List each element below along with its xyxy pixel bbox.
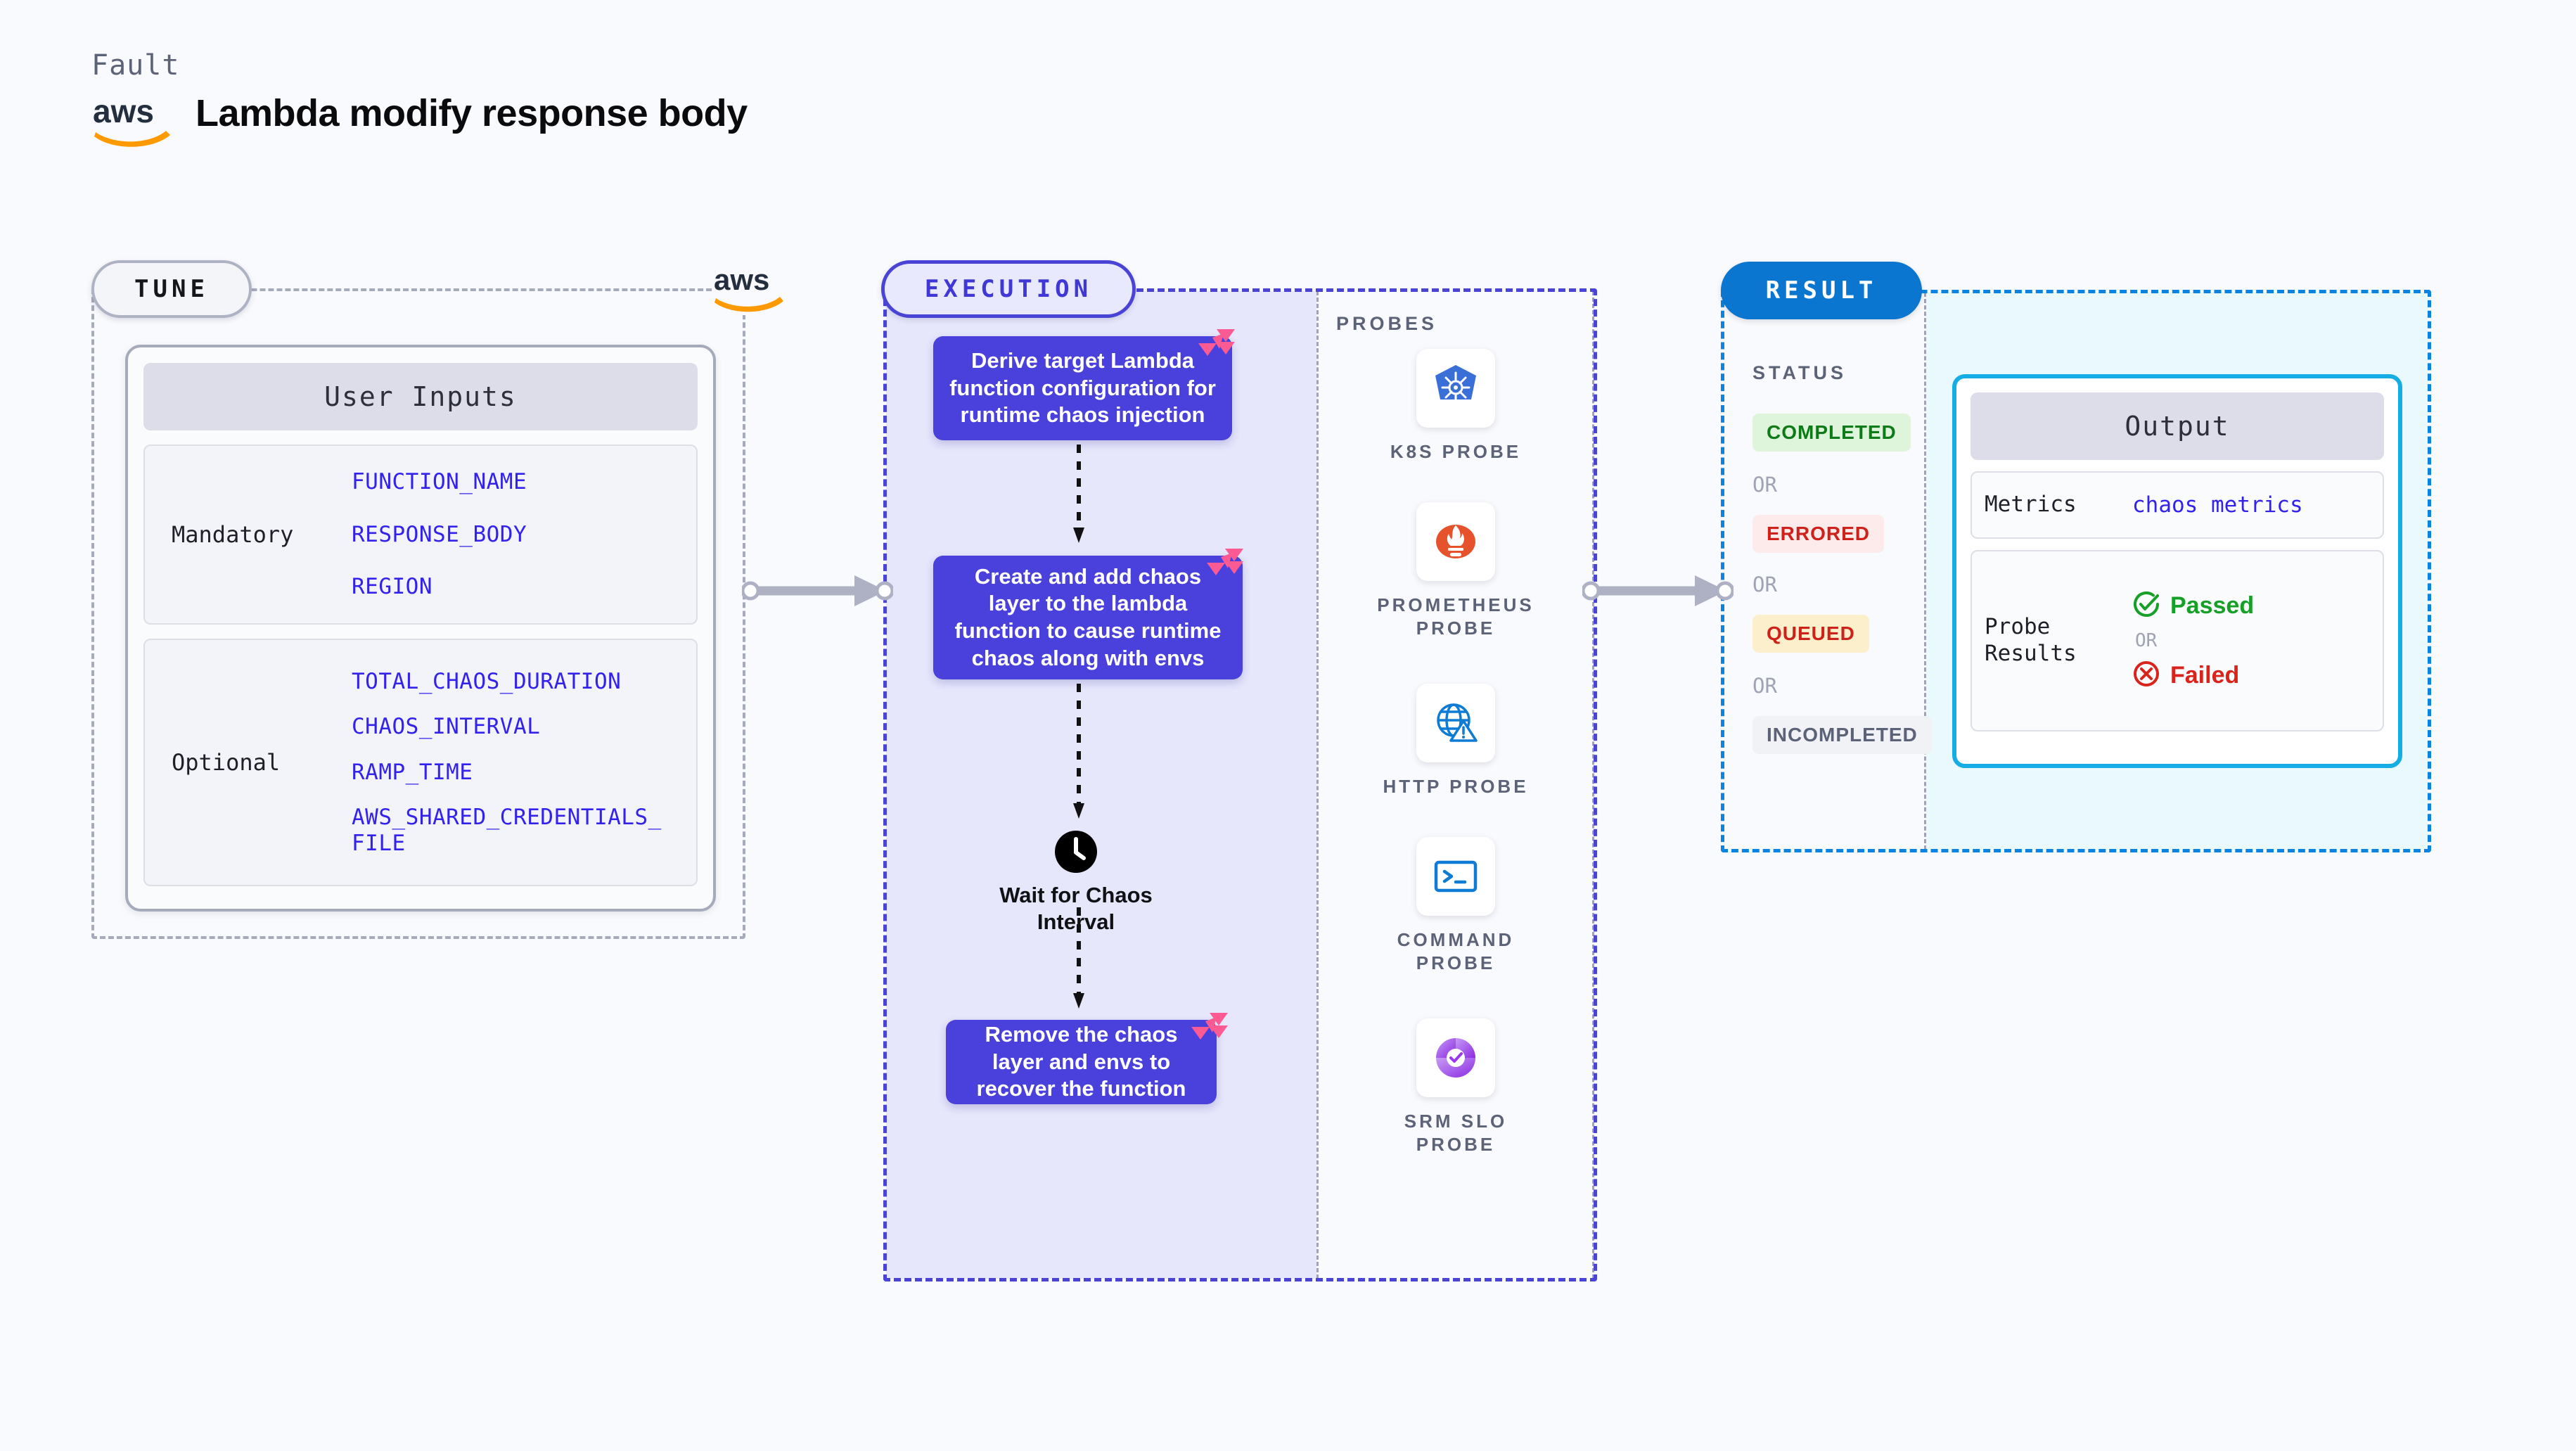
- execution-step: Create and add chaos layer to the lambda…: [933, 556, 1243, 679]
- arrow-right-icon: [1582, 570, 1734, 612]
- probe-item-prometheus[interactable]: PROMETHEUS PROBE: [1371, 502, 1540, 639]
- svg-text:aws: aws: [93, 93, 154, 129]
- metrics-value: chaos metrics: [2132, 492, 2303, 518]
- probe-item-k8s[interactable]: K8S PROBE: [1371, 349, 1540, 464]
- fault-kicker: Fault: [91, 49, 179, 82]
- input-group-values: TOTAL_CHAOS_DURATION CHAOS_INTERVAL RAMP…: [352, 669, 686, 857]
- arrow-right-icon: [742, 570, 893, 612]
- diagram-canvas: Fault aws Lambda modify response body TU…: [0, 0, 2576, 1451]
- flow-arrow-down-icon: [1072, 684, 1085, 824]
- output-card: Output Metrics chaos metrics Probe Resul…: [1952, 374, 2402, 768]
- input-value: RESPONSE_BODY: [352, 522, 686, 548]
- input-group-mandatory: Mandatory FUNCTION_NAME RESPONSE_BODY RE…: [143, 445, 698, 625]
- flow-arrow-down-icon: [1072, 445, 1085, 549]
- execution-step: Remove the chaos layer and envs to recov…: [946, 1020, 1217, 1104]
- input-value: REGION: [352, 574, 686, 600]
- page-title: Lambda modify response body: [196, 91, 748, 135]
- status-badge: COMPLETED: [1752, 414, 1911, 452]
- probe-results-values: Passed OR Failed: [2132, 590, 2254, 691]
- chaos-logo-icon: [1204, 546, 1248, 589]
- probe-label: SRM SLO PROBE: [1371, 1110, 1540, 1156]
- terminal-icon: [1416, 837, 1495, 916]
- status-or-label: OR: [1752, 473, 1777, 497]
- status-badge: ERRORED: [1752, 515, 1884, 553]
- output-title: Output: [1971, 392, 2384, 460]
- input-value: TOTAL_CHAOS_DURATION: [352, 669, 686, 695]
- probe-label: HTTP PROBE: [1383, 775, 1528, 798]
- status-badge: QUEUED: [1752, 615, 1869, 653]
- status-or-label: OR: [1752, 573, 1777, 596]
- probe-result-or: OR: [2135, 630, 2254, 651]
- check-circle-icon: [2132, 590, 2160, 622]
- status-or-label: OR: [1752, 674, 1777, 698]
- probe-result-passed: Passed: [2132, 590, 2254, 622]
- input-group-label: Optional: [155, 749, 352, 776]
- user-inputs-card: User Inputs Mandatory FUNCTION_NAME RESP…: [125, 345, 716, 912]
- status-title: STATUS: [1752, 362, 1847, 384]
- kubernetes-icon: [1416, 349, 1495, 428]
- output-row-probe-results: Probe Results Passed OR: [1971, 550, 2384, 731]
- probe-label: K8S PROBE: [1390, 440, 1521, 464]
- execution-step: Derive target Lambda function configurat…: [933, 336, 1232, 440]
- tune-aws-logo-icon: aws: [712, 262, 788, 315]
- input-value: AWS_SHARED_CREDENTIALS_ FILE: [352, 805, 686, 856]
- user-inputs-title: User Inputs: [143, 363, 698, 430]
- input-value: CHAOS_INTERVAL: [352, 714, 686, 740]
- passed-label: Passed: [2170, 592, 2254, 620]
- chaos-logo-icon: [1196, 326, 1239, 370]
- status-badge: INCOMPLETED: [1752, 716, 1932, 754]
- execution-pill: EXECUTION: [881, 260, 1136, 318]
- tune-pill: TUNE: [91, 260, 252, 318]
- flow-arrow-down-icon: [1072, 907, 1085, 1014]
- svg-text:aws: aws: [714, 263, 769, 296]
- clock-icon: [1054, 830, 1098, 874]
- input-group-values: FUNCTION_NAME RESPONSE_BODY REGION: [352, 469, 686, 600]
- x-circle-icon: [2132, 660, 2160, 691]
- probe-item-command[interactable]: COMMAND PROBE: [1371, 837, 1540, 974]
- output-row-metrics: Metrics chaos metrics: [1971, 471, 2384, 539]
- chaos-logo-icon: [1188, 1010, 1232, 1054]
- probe-item-http[interactable]: HTTP PROBE: [1371, 684, 1540, 798]
- input-value: RAMP_TIME: [352, 760, 686, 786]
- http-globe-warning-icon: [1416, 684, 1495, 762]
- result-pill: RESULT: [1721, 262, 1922, 319]
- probe-item-srm-slo[interactable]: SRM SLO PROBE: [1371, 1018, 1540, 1156]
- srm-slo-icon: [1416, 1018, 1495, 1097]
- prometheus-icon: [1416, 502, 1495, 581]
- failed-label: Failed: [2170, 662, 2239, 689]
- probe-label: COMMAND PROBE: [1371, 928, 1540, 974]
- probe-label: PROMETHEUS PROBE: [1371, 594, 1540, 639]
- probe-result-failed: Failed: [2132, 660, 2254, 691]
- input-value: FUNCTION_NAME: [352, 469, 686, 495]
- probe-results-label: Probe Results: [1985, 614, 2132, 667]
- aws-logo-icon: aws: [91, 91, 176, 148]
- input-group-optional: Optional TOTAL_CHAOS_DURATION CHAOS_INTE…: [143, 639, 698, 886]
- probes-title: PROBES: [1336, 313, 1437, 335]
- input-group-label: Mandatory: [155, 521, 352, 548]
- metrics-label: Metrics: [1985, 492, 2132, 518]
